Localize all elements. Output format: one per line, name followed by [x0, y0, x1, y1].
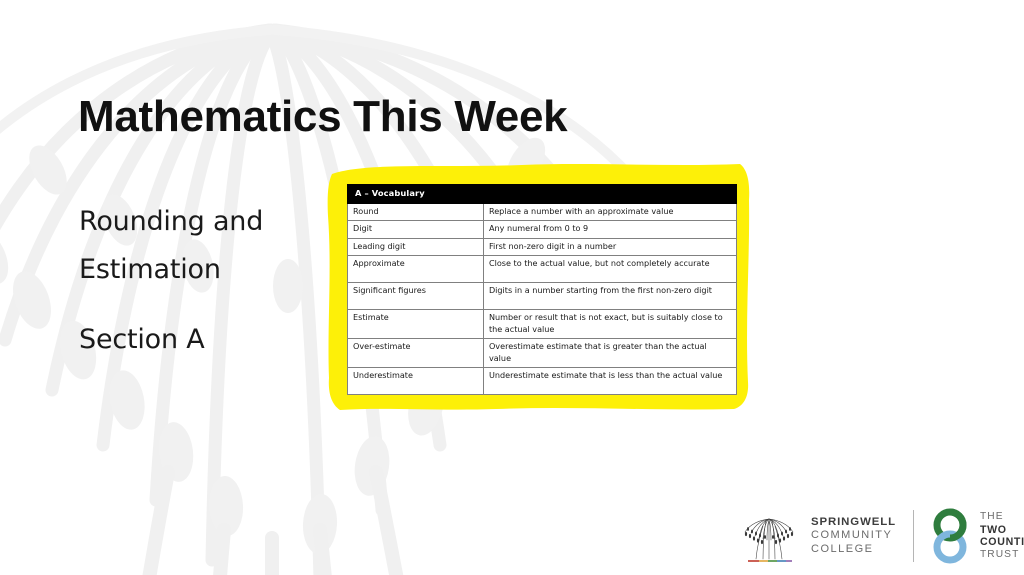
- slide-title: Mathematics This Week: [78, 92, 567, 142]
- term-cell: Leading digit: [348, 238, 484, 256]
- springwell-line-1: SPRINGWELL: [811, 516, 896, 530]
- term-cell: Over-estimate: [348, 339, 484, 368]
- table-row: Estimate Number or result that is not ex…: [348, 310, 737, 339]
- table-row: Approximate Close to the actual value, b…: [348, 256, 737, 283]
- table-row: Round Replace a number with an approxima…: [348, 203, 737, 221]
- two-counties-trust-logo: THE TWO COUNTIES TRUST: [929, 508, 1024, 564]
- table-row: Leading digit First non-zero digit in a …: [348, 238, 737, 256]
- springwell-wordmark: SPRINGWELL COMMUNITY COLLEGE: [811, 516, 896, 557]
- trust-line-2: TWO: [980, 524, 1024, 537]
- table-header-cell: A – Vocabulary: [348, 185, 737, 204]
- definition-cell: Overestimate estimate that is greater th…: [483, 339, 736, 368]
- table-row: Underestimate Underestimate estimate tha…: [348, 368, 737, 395]
- trust-line-4: TRUST: [980, 549, 1024, 562]
- term-cell: Digit: [348, 221, 484, 239]
- definition-cell: Close to the actual value, but not compl…: [483, 256, 736, 283]
- logo-divider: [913, 510, 914, 562]
- table-row: Over-estimate Overestimate estimate that…: [348, 339, 737, 368]
- term-cell: Approximate: [348, 256, 484, 283]
- subtitle-line-1: Rounding and: [79, 206, 263, 237]
- trust-line-3: COUNTIES: [980, 536, 1024, 549]
- definition-cell: Digits in a number starting from the fir…: [483, 283, 736, 310]
- subtitle-line-2: Estimation: [79, 254, 221, 285]
- definition-cell: Any numeral from 0 to 9: [483, 221, 736, 239]
- table-header-row: A – Vocabulary: [348, 185, 737, 204]
- trust-line-1: THE: [980, 511, 1024, 524]
- table-row: Digit Any numeral from 0 to 9: [348, 221, 737, 239]
- trust-wordmark: THE TWO COUNTIES TRUST: [980, 511, 1024, 561]
- term-cell: Significant figures: [348, 283, 484, 310]
- vocabulary-table-body: A – Vocabulary Round Replace a number wi…: [348, 185, 737, 395]
- definition-cell: Number or result that is not exact, but …: [483, 310, 736, 339]
- springwell-line-3: COLLEGE: [811, 543, 896, 557]
- subtitle-spacer: [79, 294, 339, 316]
- term-cell: Round: [348, 203, 484, 221]
- subtitle-line-3: Section A: [79, 324, 205, 355]
- springwell-logo: SPRINGWELL COMMUNITY COLLEGE: [736, 506, 896, 566]
- slide-subtitle: Rounding and Estimation Section A: [79, 198, 339, 364]
- definition-cell: First non-zero digit in a number: [483, 238, 736, 256]
- term-cell: Estimate: [348, 310, 484, 339]
- definition-cell: Underestimate estimate that is less than…: [483, 368, 736, 395]
- vocabulary-table: A – Vocabulary Round Replace a number wi…: [347, 184, 737, 395]
- willow-tree-icon: [736, 506, 802, 566]
- presentation-slide: Mathematics This Week Rounding and Estim…: [0, 0, 1024, 575]
- figure-eight-rings-icon: [929, 508, 971, 564]
- term-cell: Underestimate: [348, 368, 484, 395]
- definition-cell: Replace a number with an approximate val…: [483, 203, 736, 221]
- springwell-line-2: COMMUNITY: [811, 529, 896, 543]
- footer-logos: SPRINGWELL COMMUNITY COLLEGE THE TWO COU…: [736, 503, 1024, 569]
- table-row: Significant figures Digits in a number s…: [348, 283, 737, 310]
